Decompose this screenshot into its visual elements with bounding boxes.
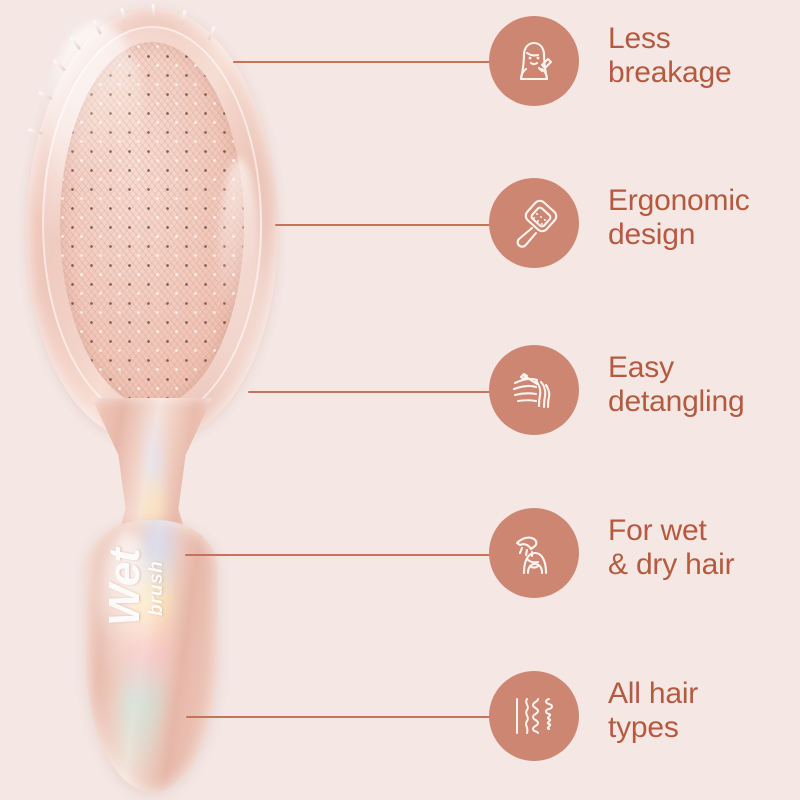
feature-icon-less-breakage[interactable]	[489, 16, 579, 106]
feature-label-less-breakage: Less breakage	[608, 22, 732, 90]
paddle-brush-icon	[506, 195, 562, 251]
comb-through-hair-icon	[505, 361, 563, 419]
product-image: Wet brush	[0, 0, 330, 800]
leader-line-ergonomic-design	[275, 224, 513, 226]
feature-label-all-hair-types: All hair types	[608, 677, 698, 745]
brand-logo: Wet brush	[104, 549, 168, 626]
head-highlight	[48, 22, 144, 222]
feature-icon-easy-detangling[interactable]	[489, 345, 579, 435]
leader-line-for-wet-dry-hair	[185, 554, 515, 556]
brand-logo-primary: Wet	[100, 549, 149, 626]
brand-logo-secondary: brush	[146, 549, 168, 616]
shower-head-over-hair-icon	[506, 525, 562, 581]
infographic-canvas: Wet brush Less breakage	[0, 0, 800, 800]
feature-label-easy-detangling: Easy detangling	[608, 351, 744, 419]
head-highlight-secondary	[218, 158, 260, 388]
brush-head	[26, 8, 278, 440]
feature-icon-all-hair-types[interactable]	[489, 671, 579, 761]
feature-icon-for-wet-dry-hair[interactable]	[489, 508, 579, 598]
feature-label-ergonomic-design: Ergonomic design	[608, 184, 750, 252]
woman-brushing-hair-icon	[506, 33, 562, 89]
leader-line-all-hair-types	[186, 716, 516, 718]
hair-texture-strands-icon	[505, 687, 563, 745]
feature-icon-ergonomic-design[interactable]	[489, 178, 579, 268]
leader-line-less-breakage	[233, 61, 511, 63]
bristle-tip	[151, 4, 155, 19]
leader-line-easy-detangling	[248, 391, 516, 393]
feature-label-for-wet-dry-hair: For wet & dry hair	[608, 514, 734, 582]
